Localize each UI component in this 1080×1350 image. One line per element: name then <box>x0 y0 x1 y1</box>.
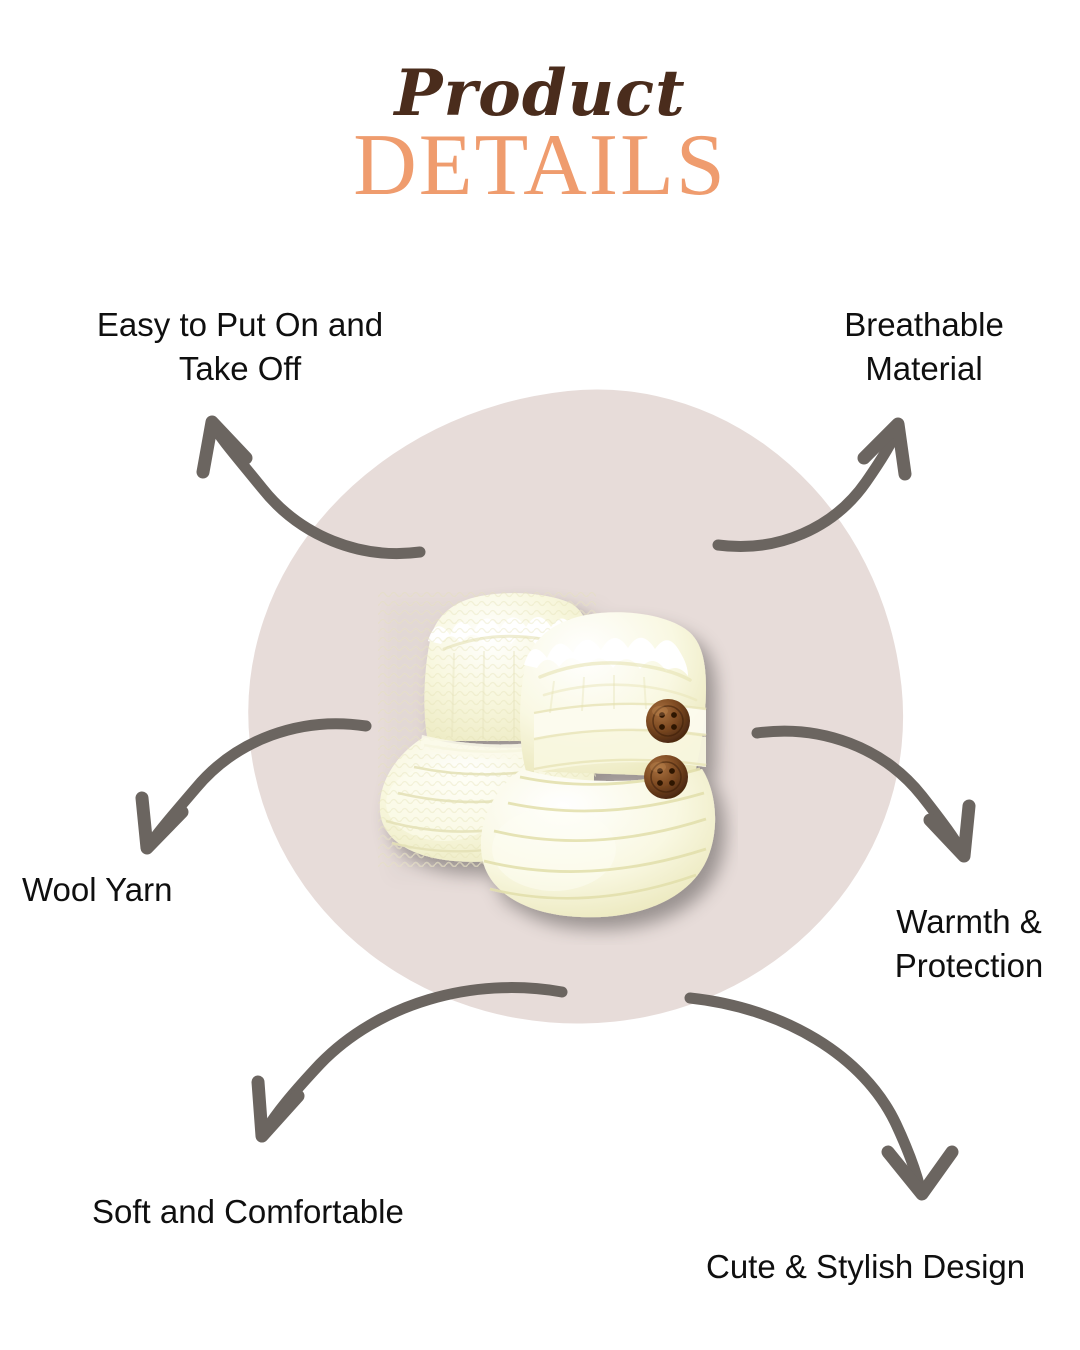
infographic-canvas: Product DETAILS <box>0 0 1080 1350</box>
title-main-word: DETAILS <box>0 120 1080 212</box>
curved-arrow-icon-cute <box>690 998 952 1194</box>
feature-label-wool: Wool Yarn <box>22 868 282 912</box>
feature-label-warmth: Warmth & Protection <box>864 900 1074 988</box>
page-title: Product DETAILS <box>0 62 1080 212</box>
feature-label-soft: Soft and Comfortable <box>92 1190 512 1234</box>
feature-label-cute: Cute & Stylish Design <box>706 1245 1080 1289</box>
feature-label-breathable: Breathable Material <box>784 303 1064 391</box>
wooden-button-top <box>646 699 690 743</box>
product-image <box>358 545 738 945</box>
wooden-button-bottom <box>644 755 688 799</box>
feature-label-easy: Easy to Put On and Take Off <box>40 303 440 391</box>
